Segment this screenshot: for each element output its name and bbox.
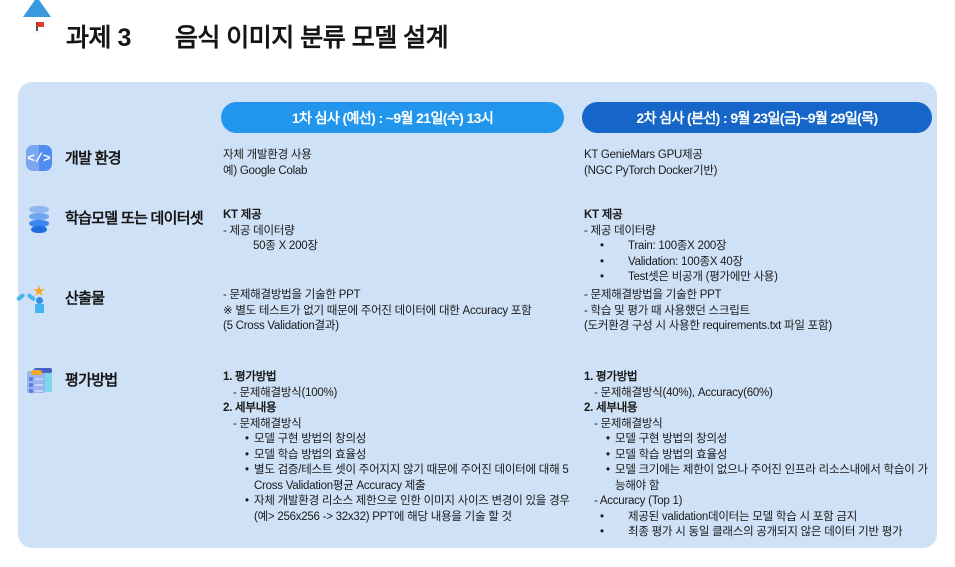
cell-dataset-round1: KT 제공 - 제공 데이터량 50종 X 200장 (223, 208, 575, 255)
cell-line: - 문제해결방식 (584, 417, 936, 433)
cell-line: - 문제해결방식 (223, 417, 575, 433)
bullet-text: 모델 학습 방법의 효율성 (615, 448, 936, 464)
task-badge: 과제 3 (66, 18, 131, 54)
cell-line: 1. 평가방법 (584, 370, 936, 386)
cell-line: (5 Cross Validation결과) (223, 319, 575, 335)
cell-dev-env-round1: 자체 개발환경 사용 예) Google Colab (223, 148, 575, 179)
cell-line: - 학습 및 평가 때 사용했던 스크립트 (584, 304, 936, 320)
bullet-marker: • (600, 270, 628, 286)
code-icon: </> (26, 145, 54, 173)
cell-bullet: • 별도 검증/테스트 셋이 주어지지 않기 때문에 주어진 데이터에 대해 5… (223, 463, 575, 494)
row-label-text: 평가방법 (65, 370, 117, 392)
cell-deliverables-round2: - 문제해결방법을 기술한 PPT - 학습 및 평가 때 사용했던 스크립트 … (584, 288, 936, 335)
content-panel: 1차 심사 (예선) : ~9월 21일(수) 13시 2차 심사 (본선) :… (18, 82, 937, 548)
bullet-text: Validation: 100종X 40장 (628, 255, 936, 271)
bullet-text: Train: 100종X 200장 (628, 239, 936, 255)
bullet-text: 제공된 validation데이터는 모델 학습 시 포함 금지 (628, 510, 936, 526)
cell-line: - 문제해결방법을 기술한 PPT (584, 288, 936, 304)
bullet-marker: • (606, 463, 615, 494)
row-label-text: 산출물 (65, 288, 104, 310)
bullet-marker: • (245, 448, 254, 464)
bullet-marker: • (600, 255, 628, 271)
bullet-text: 모델 구현 방법의 창의성 (615, 432, 936, 448)
cell-bullet: • Train: 100종X 200장 (584, 239, 936, 255)
database-icon (26, 205, 54, 233)
bullet-text: 자체 개발환경 리소스 제한으로 인한 이미지 사이즈 변경이 있을 경우 (예… (254, 494, 575, 525)
cell-line: - 제공 데이터량 (584, 224, 936, 240)
cell-line: - 문제해결방식(100%) (223, 386, 575, 402)
cell-dev-env-round2: KT GenieMars GPU제공 (NGC PyTorch Docker기반… (584, 148, 936, 179)
page-title: 음식 이미지 분류 모델 설계 (175, 18, 448, 54)
cell-dataset-round2: KT 제공 - 제공 데이터량 • Train: 100종X 200장 • Va… (584, 208, 936, 286)
cell-deliverables-round1: - 문제해결방법을 기술한 PPT ※ 별도 테스트가 없기 때문에 주어진 데… (223, 288, 575, 335)
row-label-evaluation: 평가방법 (26, 370, 221, 395)
cell-line: KT 제공 (584, 208, 936, 224)
cell-bullet: • 제공된 validation데이터는 모델 학습 시 포함 금지 (584, 510, 936, 526)
row-label-text: 학습모델 또는 데이터셋 (65, 208, 203, 230)
cell-bullet: • 최종 평가 시 동일 클래스의 공개되지 않은 데이터 기반 평가 (584, 525, 936, 541)
cell-line: (NGC PyTorch Docker기반) (584, 164, 936, 180)
cell-line: 예) Google Colab (223, 164, 575, 180)
cell-bullet: • 모델 크기에는 제한이 없으나 주어진 인프라 리소스내에서 학습이 가능해… (584, 463, 936, 494)
bullet-text: 모델 구현 방법의 창의성 (254, 432, 575, 448)
cell-bullet: • Test셋은 비공개 (평가에만 사용) (584, 270, 936, 286)
bullet-marker: • (245, 432, 254, 448)
cell-line: KT 제공 (223, 208, 575, 224)
cell-line: - 문제해결방법을 기술한 PPT (223, 288, 575, 304)
bullet-marker: • (600, 525, 628, 541)
cell-line: (도커환경 구성 시 사용한 requirements.txt 파일 포함) (584, 319, 936, 335)
cell-evaluation-round1: 1. 평가방법 - 문제해결방식(100%) 2. 세부내용 - 문제해결방식 … (223, 370, 575, 525)
bullet-text: Test셋은 비공개 (평가에만 사용) (628, 270, 936, 286)
cell-line: - Accuracy (Top 1) (584, 494, 936, 510)
cell-bullet: • 모델 학습 방법의 효율성 (223, 448, 575, 464)
row-label-deliverables: 산출물 (26, 288, 221, 313)
row-label-dev-env: </> 개발 환경 (26, 148, 221, 173)
bullet-text: 모델 학습 방법의 효율성 (254, 448, 575, 464)
cell-bullet: • 모델 구현 방법의 창의성 (584, 432, 936, 448)
bullet-marker: • (600, 510, 628, 526)
bullet-marker: • (245, 463, 254, 494)
achievement-icon (26, 285, 54, 313)
cell-bullet: • Validation: 100종X 40장 (584, 255, 936, 271)
cell-bullet: • 자체 개발환경 리소스 제한으로 인한 이미지 사이즈 변경이 있을 경우 … (223, 494, 575, 525)
cell-line: KT GenieMars GPU제공 (584, 148, 936, 164)
slide-title-bar: 과제 3 음식 이미지 분류 모델 설계 (0, 0, 955, 72)
cell-bullet: • 모델 구현 방법의 창의성 (223, 432, 575, 448)
bullet-marker: • (600, 239, 628, 255)
cell-line: 50종 X 200장 (223, 239, 575, 255)
column-header-round1: 1차 심사 (예선) : ~9월 21일(수) 13시 (221, 102, 564, 133)
cell-line: 2. 세부내용 (584, 401, 936, 417)
clipboard-icon (26, 367, 54, 395)
bullet-text: 최종 평가 시 동일 클래스의 공개되지 않은 데이터 기반 평가 (628, 525, 936, 541)
bullet-marker: • (606, 432, 615, 448)
cell-line: 2. 세부내용 (223, 401, 575, 417)
column-header-round2: 2차 심사 (본선) : 9월 23일(금)~9월 29일(목) (582, 102, 932, 133)
cell-line: - 제공 데이터량 (223, 224, 575, 240)
cell-bullet: • 모델 학습 방법의 효율성 (584, 448, 936, 464)
cell-line: ※ 별도 테스트가 없기 때문에 주어진 데이터에 대한 Accuracy 포함 (223, 304, 575, 320)
bullet-text: 모델 크기에는 제한이 없으나 주어진 인프라 리소스내에서 학습이 가능해야 … (615, 463, 936, 494)
mountain-icon (22, 21, 52, 51)
bullet-marker: • (606, 448, 615, 464)
cell-evaluation-round2: 1. 평가방법 - 문제해결방식(40%), Accuracy(60%) 2. … (584, 370, 936, 541)
row-label-text: 개발 환경 (65, 148, 121, 170)
cell-line: 1. 평가방법 (223, 370, 575, 386)
cell-line: - 문제해결방식(40%), Accuracy(60%) (584, 386, 936, 402)
row-label-dataset: 학습모델 또는 데이터셋 (26, 208, 221, 233)
bullet-text: 별도 검증/테스트 셋이 주어지지 않기 때문에 주어진 데이터에 대해 5 C… (254, 463, 575, 494)
cell-line: 자체 개발환경 사용 (223, 148, 575, 164)
bullet-marker: • (245, 494, 254, 525)
